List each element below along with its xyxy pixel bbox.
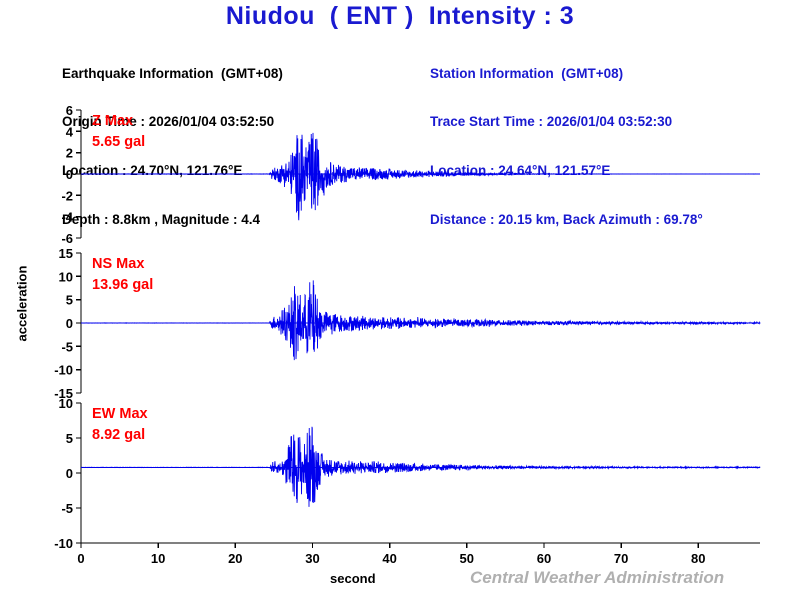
y-tick-label: -6 <box>61 231 73 246</box>
x-axis: 01020304050607080 <box>77 543 760 566</box>
ew-max-label-line1: EW Max <box>92 406 148 422</box>
y-tick-label: 15 <box>59 246 73 261</box>
y-tick-label: -10 <box>54 536 73 551</box>
x-tick-label: 40 <box>382 551 396 566</box>
trace-z <box>81 133 760 220</box>
y-tick-label: 0 <box>66 167 73 182</box>
ew-max-label-line2: 8.92 gal <box>92 427 145 443</box>
y-tick-label: 4 <box>66 124 74 139</box>
trace-ns <box>81 280 760 360</box>
z-max-label-line1: Z Max <box>92 113 133 129</box>
x-tick-label: 50 <box>460 551 474 566</box>
x-axis-label: second <box>330 571 376 586</box>
y-tick-label: 5 <box>66 431 73 446</box>
y-tick-label: 6 <box>66 103 73 118</box>
y-tick-label: 10 <box>59 269 73 284</box>
y-tick-label: -4 <box>61 210 73 225</box>
ns-max-label-line1: NS Max <box>92 256 144 272</box>
x-tick-label: 0 <box>77 551 84 566</box>
ns-max-label-line2: 13.96 gal <box>92 277 153 293</box>
x-tick-label: 10 <box>151 551 165 566</box>
panel-ns: 151050-5-10-15NS Max13.96 gal <box>54 246 760 401</box>
y-tick-label: -5 <box>61 501 73 516</box>
x-tick-label: 30 <box>305 551 319 566</box>
y-tick-label: 2 <box>66 146 73 161</box>
seismogram-page: Niudou ( ENT ) Intensity : 3 Earthquake … <box>0 0 800 600</box>
y-tick-label: -2 <box>61 188 73 203</box>
y-tick-label: -10 <box>54 363 73 378</box>
seismogram-plot: 6420-2-4-6Z Max5.65 gal151050-5-10-15NS … <box>0 0 800 600</box>
attribution-watermark: Central Weather Administration <box>470 568 724 588</box>
x-tick-label: 70 <box>614 551 628 566</box>
y-tick-label: 10 <box>59 396 73 411</box>
trace-ew <box>81 427 760 507</box>
x-tick-label: 60 <box>537 551 551 566</box>
y-tick-label: 0 <box>66 316 73 331</box>
x-tick-label: 20 <box>228 551 242 566</box>
panel-z: 6420-2-4-6Z Max5.65 gal <box>61 103 760 246</box>
y-tick-label: -5 <box>61 339 73 354</box>
panel-ew: 1050-5-10EW Max8.92 gal <box>54 396 760 551</box>
x-tick-label: 80 <box>691 551 705 566</box>
y-tick-label: 0 <box>66 466 73 481</box>
y-axis-label: acceleration <box>15 254 30 354</box>
y-tick-label: 5 <box>66 293 73 308</box>
z-max-label-line2: 5.65 gal <box>92 134 145 150</box>
